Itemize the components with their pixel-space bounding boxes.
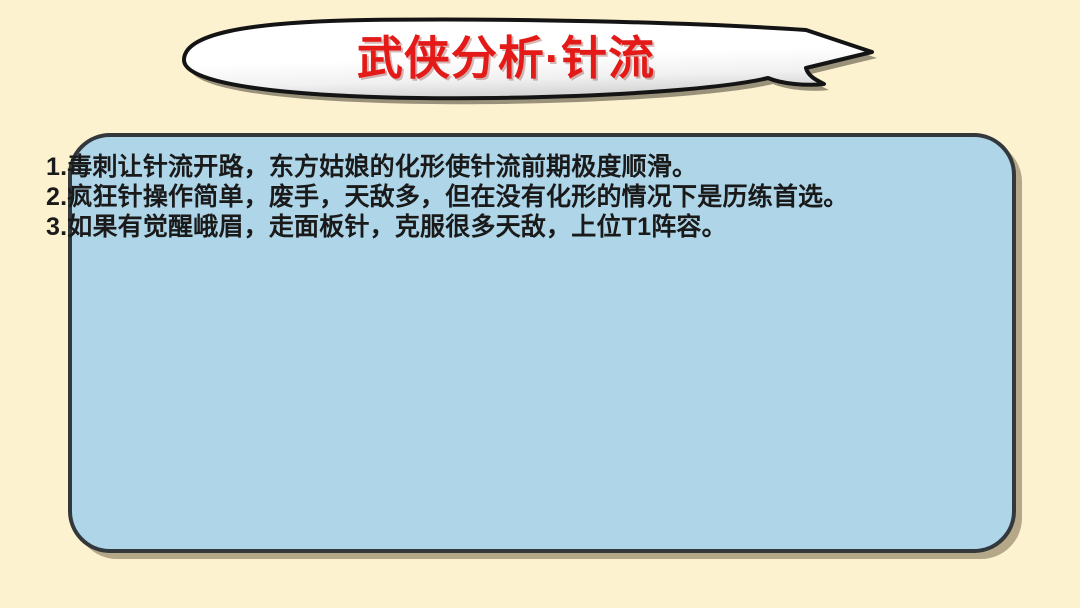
title-banner: 武侠分析·针流 xyxy=(166,6,882,110)
list-item: 1.毒刺让针流开路，东方姑娘的化形使针流前期极度顺滑。 xyxy=(46,152,926,182)
list-item: 2.疯狂针操作简单，废手，天敌多，但在没有化形的情况下是历练首选。 xyxy=(46,182,926,212)
analysis-points-list: 1.毒刺让针流开路，东方姑娘的化形使针流前期极度顺滑。 2.疯狂针操作简单，废手… xyxy=(46,152,926,242)
slide-canvas: 武侠分析·针流 1.毒刺让针流开路，东方姑娘的化形使针流前期极度顺滑。 2.疯狂… xyxy=(0,0,1080,608)
page-title: 武侠分析·针流 xyxy=(166,6,882,110)
list-item: 3.如果有觉醒峨眉，走面板针，克服很多天敌，上位T1阵容。 xyxy=(46,212,926,242)
